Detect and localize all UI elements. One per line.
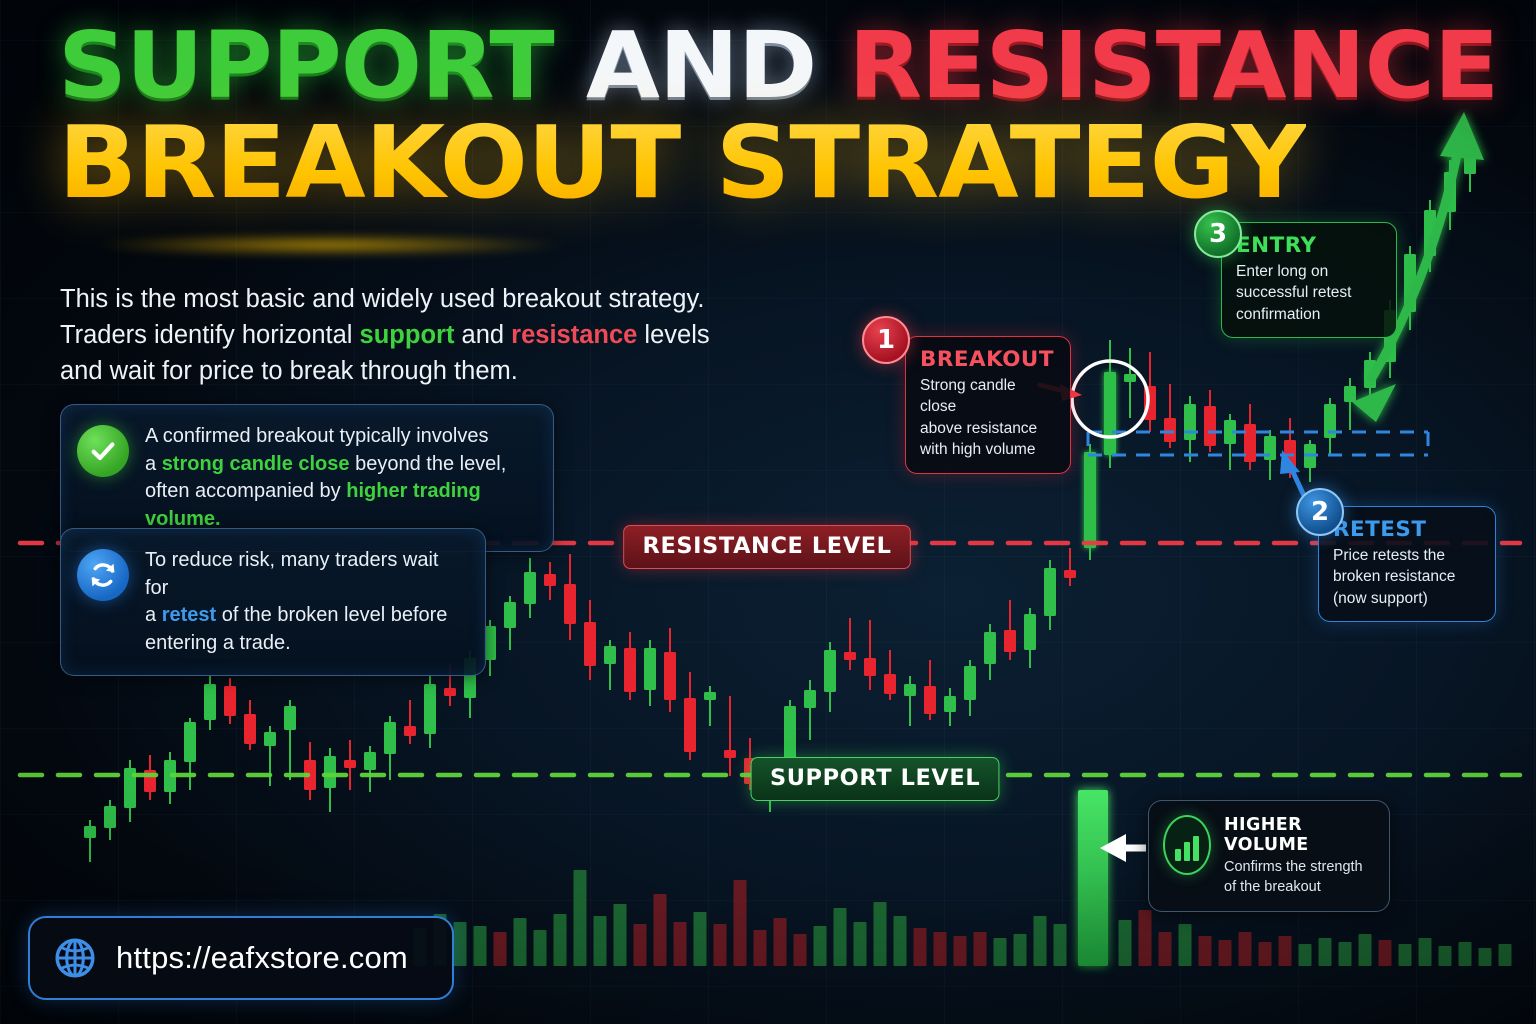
candle-body (544, 574, 556, 586)
volume-bar (974, 932, 987, 966)
volume-bar (1279, 936, 1292, 966)
title-line-2: BREAKOUT STRATEGY (58, 117, 1181, 209)
card1-highlight-strong-candle-close: strong candle close (162, 453, 350, 475)
retest-arrow-head (1280, 450, 1300, 474)
candle-body (824, 650, 836, 692)
candle-body (924, 686, 936, 714)
callout-retest-b3: (now support) (1333, 588, 1481, 609)
volume-bar (854, 922, 867, 966)
candle-body (844, 652, 856, 660)
callout-retest-b1: Price retests the (1333, 545, 1481, 566)
candle-body (904, 684, 916, 696)
candle-body (1404, 254, 1416, 312)
candle-body (1044, 568, 1056, 616)
candle-body (304, 760, 316, 790)
callout-breakout-body: Strong candle close above resistance wit… (920, 375, 1056, 461)
volume-bar (1199, 936, 1212, 966)
callout-retest: RETEST Price retests the broken resistan… (1318, 506, 1496, 622)
intro-l2-a: Traders identify horizontal (60, 321, 360, 349)
check-circle-icon (77, 425, 129, 477)
callout-retest-heading: RETEST (1333, 517, 1484, 541)
volume-bar (1219, 940, 1232, 966)
info-card-2-text: To reduce risk, many traders wait for a … (145, 547, 467, 657)
candle-body (684, 698, 696, 752)
volume-bar (1139, 910, 1152, 966)
entry-arrow-head-up (1440, 112, 1484, 160)
volume-bar (1419, 938, 1432, 966)
volume-bar (754, 930, 767, 966)
resistance-level-label: RESISTANCE LEVEL (623, 525, 911, 569)
candle-body (1024, 614, 1036, 650)
volume-bar (1179, 924, 1192, 966)
volume-bar (954, 936, 967, 966)
intro-line-2: Traders identify horizontal support and … (60, 317, 740, 353)
volume-bar (454, 922, 467, 966)
volume-bar (1339, 942, 1352, 966)
volume-bar-breakout (1078, 790, 1108, 966)
volume-bar (574, 870, 587, 966)
candle-body (204, 684, 216, 720)
callout-breakout-b1: Strong candle close (920, 375, 1056, 418)
volume-bar (1459, 942, 1472, 966)
candle-body (504, 602, 516, 628)
volume-bar (674, 922, 687, 966)
candle-body (524, 572, 536, 604)
candle-body (1324, 404, 1336, 438)
volume-bar (874, 902, 887, 966)
intro-l2-e: levels (637, 321, 709, 349)
volume-bar (774, 918, 787, 966)
callout-entry-b3: confirmation (1236, 304, 1382, 325)
volume-bar (594, 916, 607, 966)
candle-body (624, 648, 636, 692)
volume-bar (1259, 942, 1272, 966)
candle-body (1224, 420, 1236, 444)
candle-body (104, 806, 116, 828)
card1-l2c: beyond the level, (350, 453, 507, 475)
candle-body (644, 648, 656, 690)
volume-bar (1319, 938, 1332, 966)
candle-body (364, 752, 376, 770)
candle-body (1304, 444, 1316, 468)
intro-line-1: This is the most basic and widely used b… (60, 281, 740, 317)
candle-body (1184, 404, 1196, 440)
card2-l2a: a (145, 604, 162, 626)
intro-l2-c: and (454, 321, 511, 349)
website-url-bar[interactable]: https://eafxstore.com (28, 916, 454, 1000)
step-badge-1: 1 (862, 316, 910, 364)
volume-bar (1399, 944, 1412, 966)
entry-arrow-head-down (1352, 384, 1396, 422)
candle-body (424, 684, 436, 734)
candle-body (584, 622, 596, 666)
candle-body (1164, 418, 1176, 442)
volume-bar (934, 932, 947, 966)
candle-body (864, 658, 876, 676)
volume-bar (794, 934, 807, 966)
intro-line-3: and wait for price to break through them… (60, 353, 740, 389)
volume-bar (1054, 924, 1067, 966)
candle-body (724, 750, 736, 758)
card2-l2c: of the broken level before (216, 604, 447, 626)
candle-body (804, 690, 816, 708)
candle-body (124, 768, 136, 808)
callout-volume-heading: HIGHER VOLUME (1224, 815, 1377, 855)
callout-breakout: BREAKOUT Strong candle close above resis… (905, 336, 1071, 474)
callout-higher-volume: HIGHER VOLUME Confirms the strength of t… (1148, 800, 1390, 912)
candle-body (1284, 440, 1296, 470)
title-word-breakout-strategy: BREAKOUT STRATEGY (58, 104, 1306, 221)
candle-body (1244, 424, 1256, 462)
callout-breakout-b2: above resistance (920, 418, 1056, 439)
callout-entry-b1: Enter long on (1236, 261, 1382, 282)
candle-body (384, 722, 396, 754)
card1-l3a: often accompanied by (145, 480, 346, 502)
candle-body (1104, 372, 1116, 455)
candle-body (284, 706, 296, 730)
candle-body (1144, 386, 1156, 420)
callout-retest-b2: broken resistance (1333, 566, 1481, 587)
step-badge-2: 2 (1296, 488, 1344, 536)
callout-volume-b1: Confirms the strength (1224, 858, 1377, 878)
volume-bar (534, 930, 547, 966)
volume-bar (1479, 948, 1492, 966)
intro-paragraph: This is the most basic and widely used b… (60, 281, 740, 390)
candle-body (564, 584, 576, 624)
volume-bar (514, 918, 527, 966)
card2-line3: entering a trade. (145, 630, 467, 658)
card1-line1: A confirmed breakout typically involves (145, 423, 535, 451)
callout-breakout-b3: with high volume (920, 439, 1056, 460)
candle-body (1004, 630, 1016, 652)
volume-bar (1359, 934, 1372, 966)
volume-bar (1159, 932, 1172, 966)
candle-body (324, 756, 336, 788)
title-line-1: SUPPORT AND RESISTANCE (58, 24, 1181, 109)
candle-body (784, 706, 796, 762)
volume-bar (734, 880, 747, 966)
candle-body (404, 726, 416, 736)
website-url-text: https://eafxstore.com (116, 940, 408, 976)
info-card-retest: To reduce risk, many traders wait for a … (60, 528, 486, 676)
candle-body (944, 696, 956, 712)
volume-bar (1239, 932, 1252, 966)
title-block: SUPPORT AND RESISTANCE BREAKOUT STRATEGY (58, 24, 1138, 209)
volume-bar (1014, 934, 1027, 966)
candle-body (884, 674, 896, 694)
card2-line1: To reduce risk, many traders wait for (145, 547, 467, 602)
card1-line3: often accompanied by higher trading volu… (145, 478, 535, 533)
candle-body (1444, 172, 1456, 212)
refresh-circle-icon (77, 549, 129, 601)
candle-body (1464, 150, 1476, 174)
callout-breakout-heading: BREAKOUT (920, 347, 1059, 371)
candle-body (344, 760, 356, 768)
candle-body (164, 760, 176, 792)
callout-entry-body: Enter long on successful retest confirma… (1236, 261, 1382, 325)
candle-body (1364, 360, 1376, 388)
volume-bar (614, 904, 627, 966)
intro-resistance-word: resistance (511, 321, 637, 349)
callout-entry-b2: successful retest (1236, 282, 1382, 303)
candle-body (984, 632, 996, 664)
card2-line2: a retest of the broken level before (145, 602, 467, 630)
volume-bar (994, 938, 1007, 966)
volume-bar (494, 932, 507, 966)
volume-bar (634, 924, 647, 966)
candle-body (1344, 386, 1356, 402)
volume-bar (814, 926, 827, 966)
candle-body (604, 646, 616, 664)
globe-icon (52, 935, 98, 981)
volume-bar (1439, 946, 1452, 966)
candle-body (84, 826, 96, 838)
volume-bar (894, 916, 907, 966)
callout-volume-b2: of the breakout (1224, 878, 1377, 898)
title-glow (10, 232, 650, 258)
step-badge-3: 3 (1194, 210, 1242, 258)
candle-body (1424, 210, 1436, 256)
card2-highlight-retest: retest (162, 604, 216, 626)
infographic-canvas: SUPPORT AND RESISTANCE BREAKOUT STRATEGY… (0, 0, 1536, 1024)
support-level-label: SUPPORT LEVEL (751, 757, 1000, 801)
candle-body (1204, 406, 1216, 446)
info-card-1-text: A confirmed breakout typically involves … (145, 423, 535, 533)
candle-body (444, 688, 456, 696)
card1-line2: a strong candle close beyond the level, (145, 451, 535, 479)
volume-bar (1379, 940, 1392, 966)
candle-body (664, 652, 676, 700)
candle-body (264, 732, 276, 746)
candle-body (1064, 570, 1076, 578)
volume-bar (1034, 916, 1047, 966)
candle-body (1124, 374, 1136, 382)
callout-entry-heading: ENTRY (1236, 233, 1385, 257)
volume-bar (694, 912, 707, 966)
candle-body (144, 770, 156, 792)
candle-body (1264, 436, 1276, 460)
volume-bar (914, 928, 927, 966)
volume-bar (554, 914, 567, 966)
callout-retest-body: Price retests the broken resistance (now… (1333, 545, 1481, 609)
candle-body (964, 666, 976, 700)
candle-body (184, 722, 196, 762)
volume-bar (1119, 920, 1132, 966)
callout-volume-text: HIGHER VOLUME Confirms the strength of t… (1224, 815, 1377, 897)
breakout-highlight-circle (1072, 361, 1148, 437)
candle-body (704, 692, 716, 700)
volume-bar (714, 924, 727, 966)
intro-support-word: support (360, 321, 455, 349)
volume-bar (1299, 944, 1312, 966)
candle-body (1084, 452, 1096, 548)
candle-body (224, 686, 236, 716)
callout-entry: ENTRY Enter long on successful retest co… (1221, 222, 1397, 338)
volume-bar (834, 908, 847, 966)
volume-bar (474, 926, 487, 966)
bar-chart-icon (1163, 815, 1211, 875)
volume-bar (1499, 944, 1512, 966)
volume-bar (654, 894, 667, 966)
volume-arrow-head (1100, 834, 1126, 862)
candle-body (244, 714, 256, 744)
card1-l2a: a (145, 453, 162, 475)
